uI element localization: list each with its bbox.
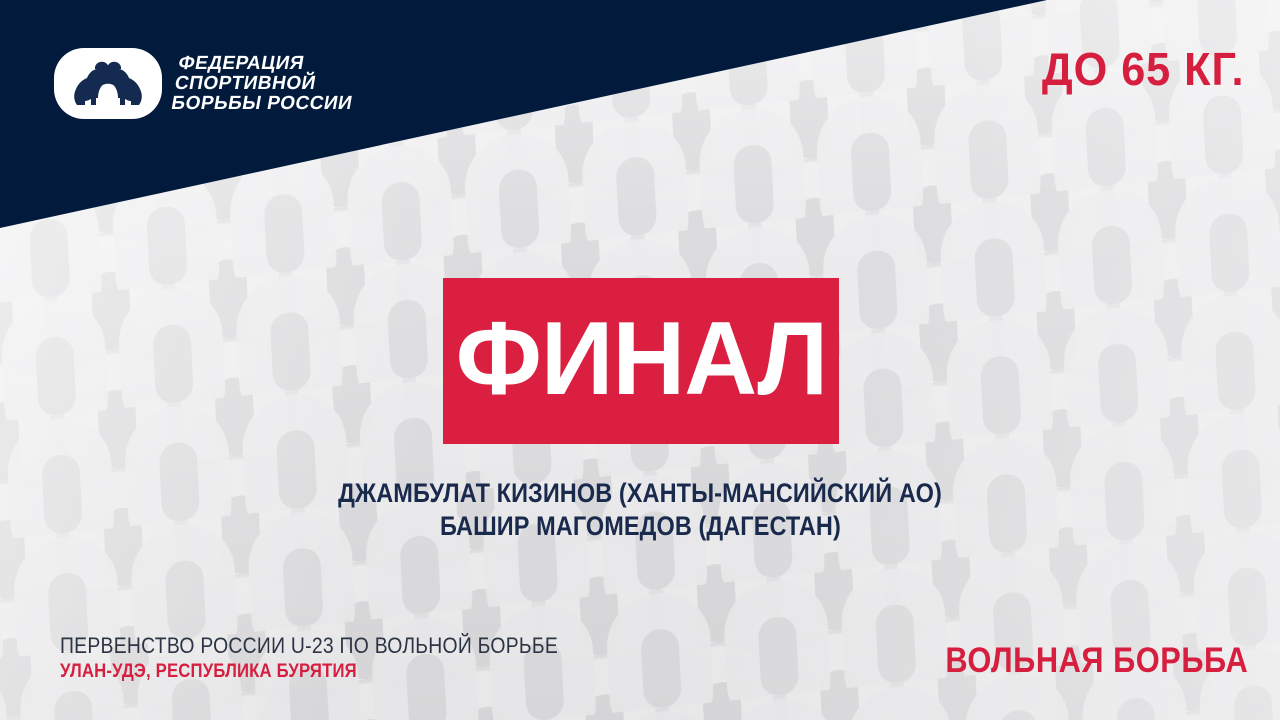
logo-line-3: БОРЬБЫ РОССИИ xyxy=(170,94,354,113)
stage-label: ФИНАЛ xyxy=(455,307,826,411)
competitor-name-2: БАШИР МАГОМЕДОВ (ДАГЕСТАН) xyxy=(440,511,841,542)
event-title: ПЕРВЕНСТВО РОССИИ U-23 ПО ВОЛЬНОЙ БОРЬБЕ xyxy=(60,634,558,657)
discipline-label: ВОЛЬНАЯ БОРЬБА xyxy=(945,643,1248,678)
federation-logo: ФЕДЕРАЦИЯ СПОРТИВНОЙ БОРЬБЫ РОССИИ xyxy=(54,48,356,119)
broadcast-graphic-stage: ФЕДЕРАЦИЯ СПОРТИВНОЙ БОРЬБЫ РОССИИ ДО 65… xyxy=(0,0,1280,720)
logo-line-2: СПОРТИВНОЙ xyxy=(173,74,357,93)
competitor-name-1: ДЖАМБУЛАТ КИЗИНОВ (ХАНТЫ-МАНСИЙСКИЙ АО) xyxy=(338,478,942,509)
event-location: УЛАН-УДЭ, РЕСПУБЛИКА БУРЯТИЯ xyxy=(60,662,558,682)
stage-banner: ФИНАЛ xyxy=(443,278,839,444)
weight-class-label: ДО 65 КГ. xyxy=(1041,46,1244,92)
competitors-list: ДЖАМБУЛАТ КИЗИНОВ (ХАНТЫ-МАНСИЙСКИЙ АО) … xyxy=(0,478,1280,542)
wrestling-bears-logo-icon xyxy=(54,48,162,119)
logo-line-1: ФЕДЕРАЦИЯ xyxy=(177,54,361,73)
event-info: ПЕРВЕНСТВО РОССИИ U-23 ПО ВОЛЬНОЙ БОРЬБЕ… xyxy=(60,634,626,682)
federation-logo-text: ФЕДЕРАЦИЯ СПОРТИВНОЙ БОРЬБЫ РОССИИ xyxy=(170,54,361,113)
